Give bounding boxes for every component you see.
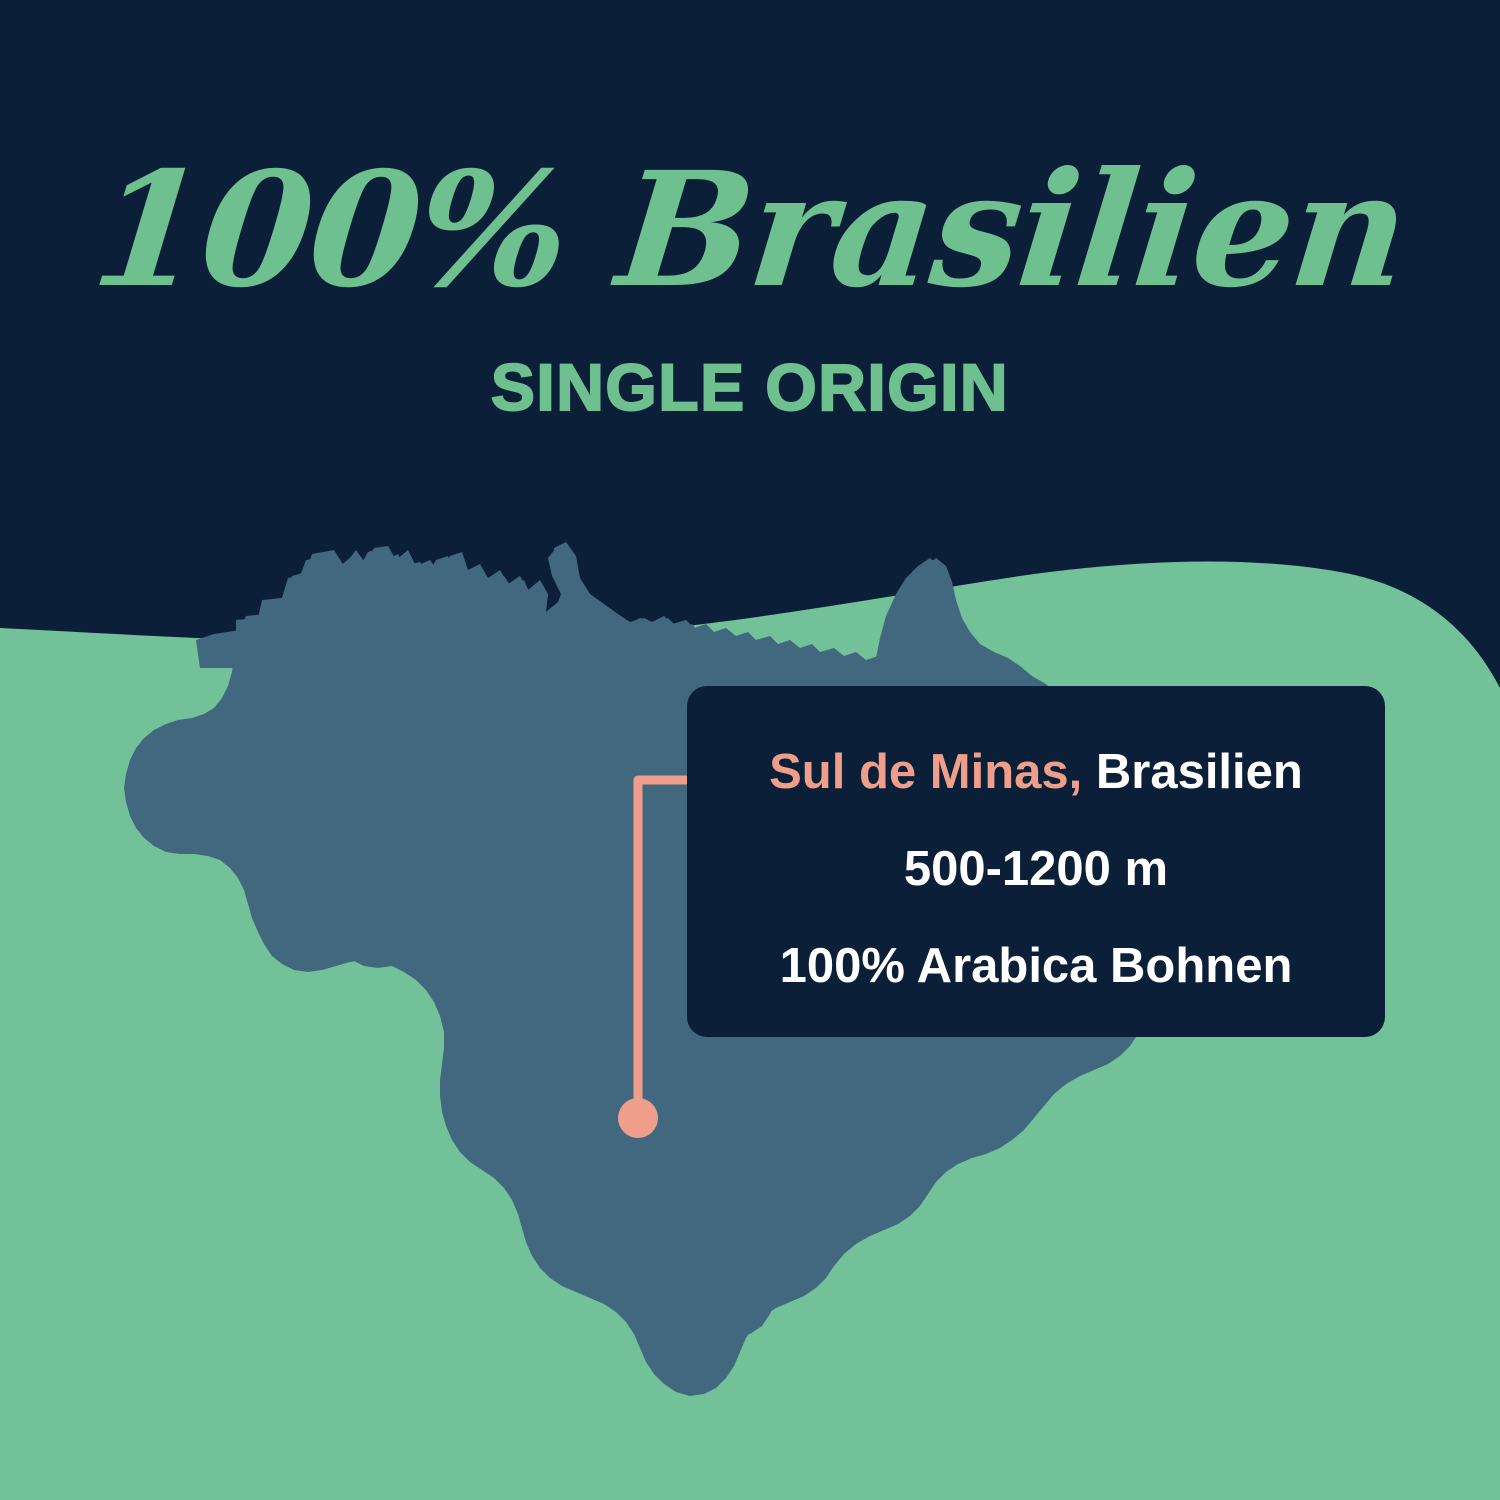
origin-location-line: Sul de Minas, Brasilien — [769, 748, 1303, 797]
origin-info-card: Sul de Minas, Brasilien 500-1200 m 100% … — [687, 686, 1385, 1037]
page-title-script: 100% Brasilien — [0, 150, 1500, 311]
origin-country-label: Brasilien — [1082, 745, 1303, 799]
poster-canvas: 100% Brasilien SINGLE ORIGIN Sul de Mina… — [0, 0, 1500, 1500]
altitude-label: 500-1200 m — [904, 845, 1168, 894]
page-subtitle: SINGLE ORIGIN — [0, 349, 1500, 425]
bean-type-label: 100% Arabica Bohnen — [780, 942, 1293, 991]
origin-region-label: Sul de Minas, — [769, 745, 1082, 799]
headline-block: 100% Brasilien SINGLE ORIGIN — [0, 150, 1500, 425]
